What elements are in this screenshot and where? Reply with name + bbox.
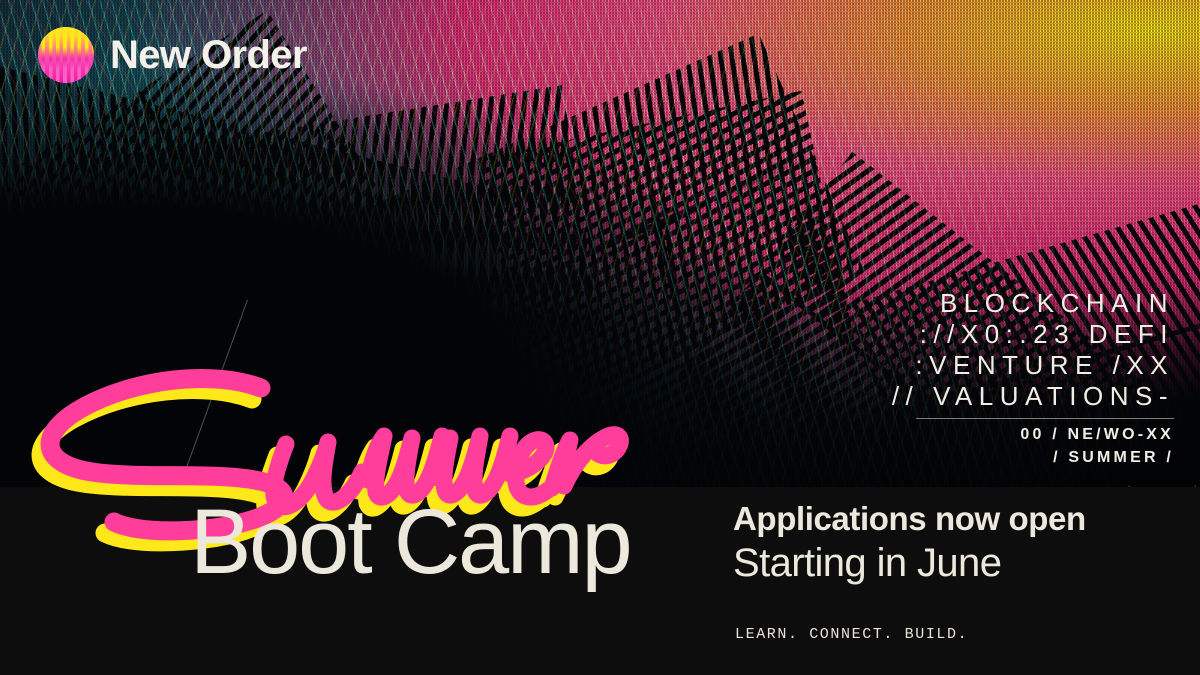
tech-text-block: BLOCKCHAIN ://X0:.23 DEFI :VENTURE /XX /… [892,288,1174,469]
tech-small-line: / SUMMER / [892,446,1174,469]
tech-line: BLOCKCHAIN [892,288,1174,319]
tagline: LEARN. CONNECT. BUILD. [735,626,968,643]
promo-text-block: Applications now open Starting in June [733,498,1086,587]
promo-line-starting: Starting in June [733,539,1086,587]
tech-small-line: 00 / NE/WO-XX [892,423,1174,446]
tech-line: ://X0:.23 DEFI [892,319,1174,350]
promo-line-applications: Applications now open [733,498,1086,539]
brand-name: New Order [110,35,307,75]
brand-logo[interactable]: New Order [38,27,307,83]
tech-divider [916,418,1174,419]
tech-line: // VALUATIONS- [892,381,1174,412]
promotional-banner: New Order BLOCKCHAIN ://X0:.23 DEFI :VEN… [0,0,1200,675]
headline-boot-camp: Boot Camp [190,496,630,588]
striped-circle-logo-icon [38,27,94,83]
tech-line: :VENTURE /XX [892,350,1174,381]
